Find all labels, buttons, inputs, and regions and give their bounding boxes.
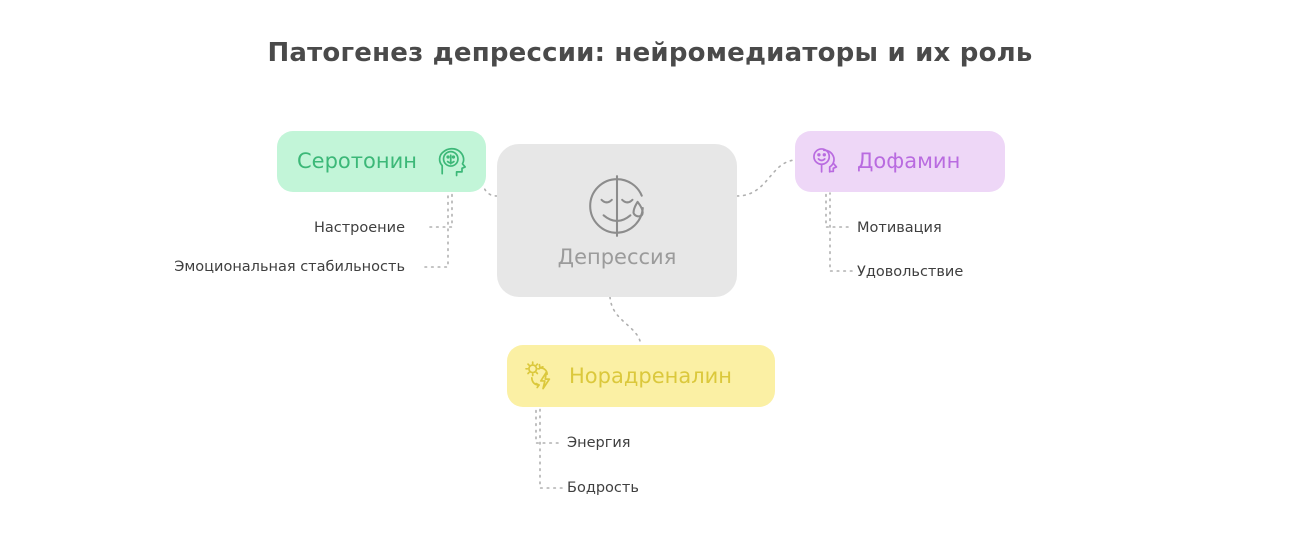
connector-center-dopamine xyxy=(737,160,795,196)
sub-label-dopamine-0: Мотивация xyxy=(857,221,942,236)
node-serotonin[interactable]: Серотонин xyxy=(277,131,486,192)
node-depression-label: Депрессия xyxy=(558,247,677,268)
node-serotonin-label: Серотонин xyxy=(297,151,417,172)
page-title: Патогенез депрессии: нейромедиаторы и их… xyxy=(0,38,1300,68)
sub-label-noradrenalin-0: Энергия xyxy=(567,436,631,451)
node-dopamine[interactable]: Дофамин xyxy=(795,131,1005,192)
head-with-face-icon xyxy=(435,144,471,180)
connector-center-noradrenalin xyxy=(610,297,641,345)
sun-lightning-cycle-icon xyxy=(521,358,557,394)
sub-label-serotonin-0: Настроение xyxy=(314,221,405,236)
smiley-head-icon xyxy=(809,144,845,180)
node-noradrenalin-label: Норадреналин xyxy=(569,366,732,387)
connector-noradrenalin-sub-1 xyxy=(540,408,562,488)
connector-dopamine-sub-1 xyxy=(830,193,852,271)
node-noradrenalin[interactable]: Норадреналин xyxy=(507,345,775,407)
sub-label-serotonin-1: Эмоциональная стабильность xyxy=(174,260,405,275)
half-happy-half-sad-face-icon xyxy=(584,173,650,239)
sub-label-dopamine-1: Удовольствие xyxy=(857,265,963,280)
node-depression[interactable]: Депрессия xyxy=(497,144,737,297)
node-dopamine-label: Дофамин xyxy=(857,151,960,172)
connector-serotonin-sub-1 xyxy=(425,193,448,267)
connector-dopamine-sub-0 xyxy=(826,193,848,227)
sub-label-noradrenalin-1: Бодрость xyxy=(567,481,639,496)
